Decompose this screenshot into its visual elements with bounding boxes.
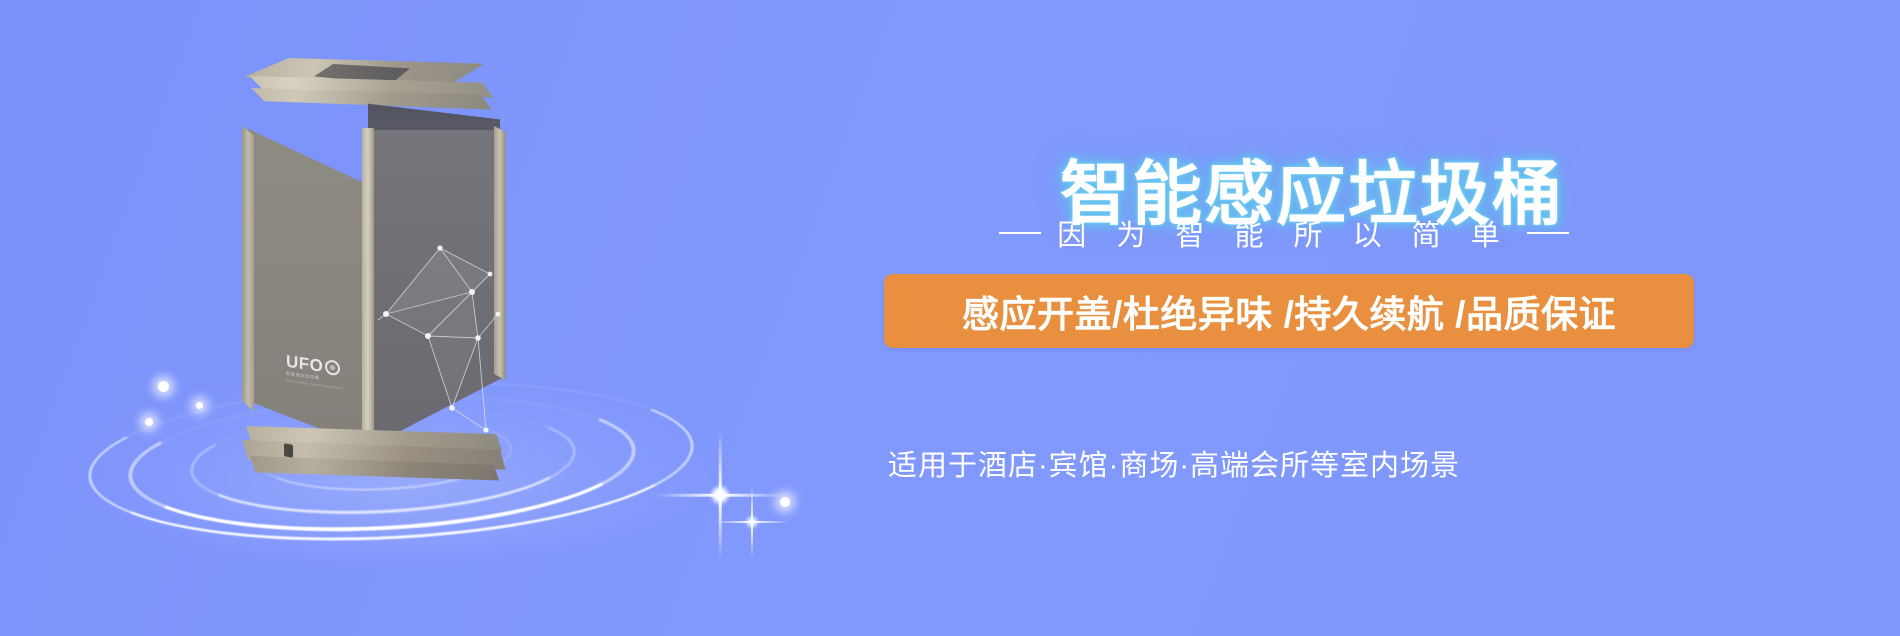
use-scenes-text: 适用于酒店·宾馆·商场·高端会所等室内场景 bbox=[888, 442, 1678, 484]
polygon-network-graphic bbox=[368, 218, 508, 458]
subtitle-dash-left bbox=[999, 232, 1041, 234]
ripple-dot-c bbox=[145, 418, 153, 426]
sparkle-dot-right bbox=[780, 497, 790, 507]
product-scene: UFO 智能感应垃圾桶 INTELLIGENT INDUCTION TRASH bbox=[0, 0, 820, 636]
promo-banner: UFO 智能感应垃圾桶 INTELLIGENT INDUCTION TRASH bbox=[0, 0, 1900, 636]
bin-edge-left bbox=[242, 112, 254, 452]
bin-base-slot bbox=[284, 443, 293, 458]
feature-tagline-bar: 感应开盖/杜绝异味 /持久续航 /品质保证 bbox=[884, 274, 1694, 348]
subtitle-dash-right bbox=[1527, 232, 1569, 234]
feature-tagline-text: 感应开盖/杜绝异味 /持久续航 /品质保证 bbox=[962, 284, 1616, 338]
banner-copy: 智能感应垃圾桶 因 为 智 能 所 以 简 单 感应开盖/杜绝异味 /持久续航 … bbox=[860, 0, 1900, 636]
sparkle-icon-small bbox=[715, 485, 789, 559]
ripple-dot-b bbox=[196, 402, 203, 409]
product-brand-logo: UFO 智能感应垃圾桶 INTELLIGENT INDUCTION TRASH bbox=[286, 354, 348, 407]
ufo-ring-icon bbox=[325, 359, 340, 376]
ripple-dot-a bbox=[158, 381, 169, 392]
banner-subtitle: 因 为 智 能 所 以 简 单 bbox=[904, 212, 1664, 254]
subtitle-text: 因 为 智 能 所 以 简 单 bbox=[1057, 212, 1510, 254]
trash-bin-illustration: UFO 智能感应垃圾桶 INTELLIGENT INDUCTION TRASH bbox=[218, 58, 548, 478]
